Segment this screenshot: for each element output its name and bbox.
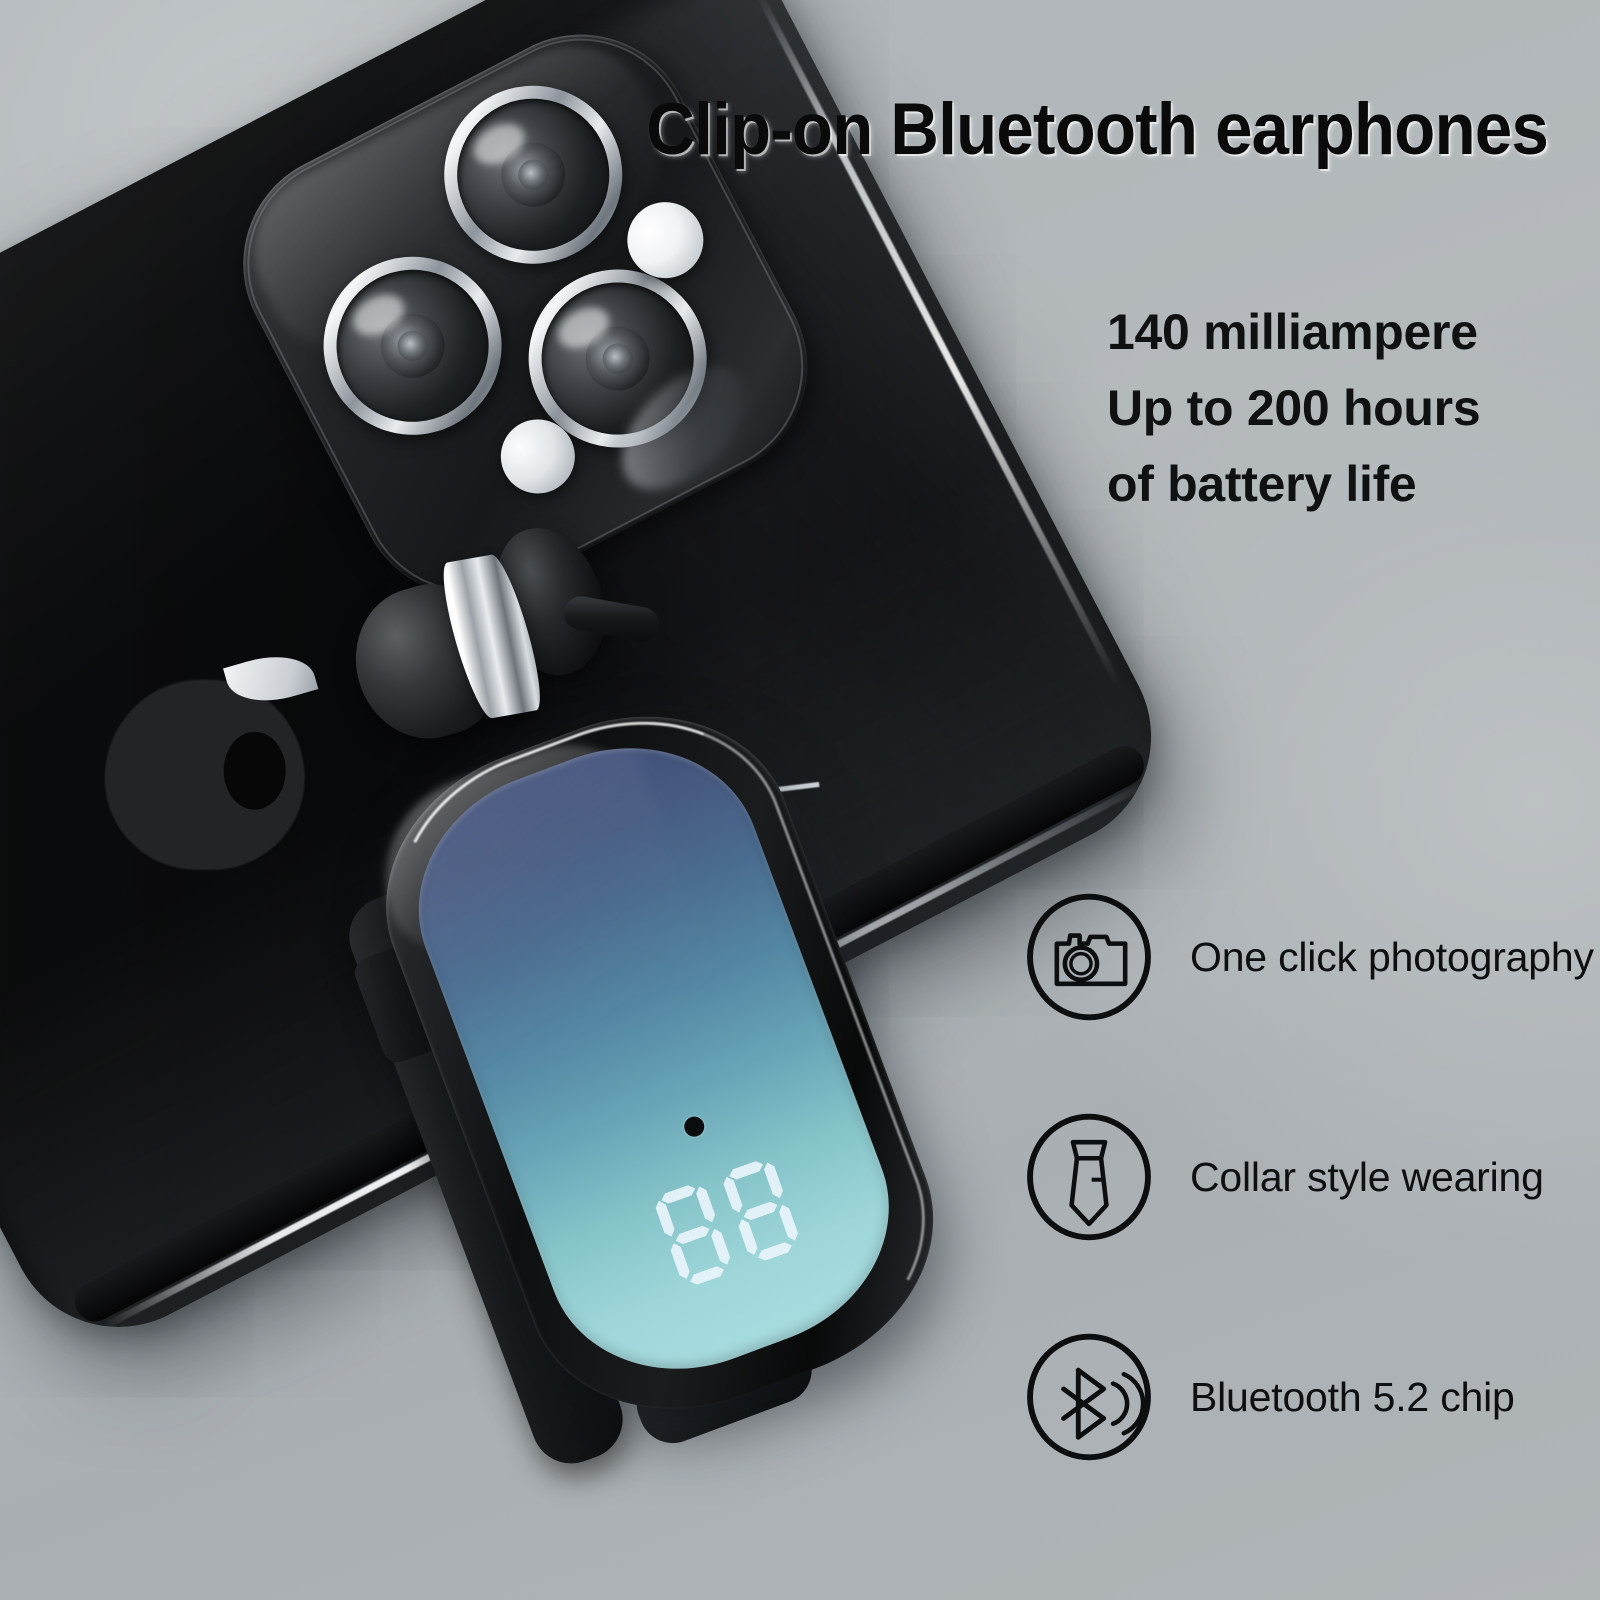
led-segment-d xyxy=(756,1240,794,1262)
feature-list: One click photography Collar style weari… xyxy=(1022,890,1594,1464)
feature-label: Bluetooth 5.2 chip xyxy=(1190,1374,1515,1421)
camera-icon xyxy=(1022,890,1156,1024)
bluetooth-icon xyxy=(1022,1330,1156,1464)
led-segment-e xyxy=(737,1218,760,1257)
led-segment-b xyxy=(762,1161,785,1200)
microphone-hole-icon xyxy=(681,1114,707,1140)
led-segment-c xyxy=(709,1227,732,1266)
feature-label: Collar style wearing xyxy=(1190,1154,1544,1201)
apple-logo-icon xyxy=(105,642,320,872)
page-title: Clip-on Bluetooth earphones xyxy=(646,88,1548,171)
led-battery-display xyxy=(648,1153,806,1291)
led-segment-c xyxy=(777,1203,800,1242)
spec-line-capacity: 140 milliampere xyxy=(1107,294,1480,370)
feature-item-photography: One click photography xyxy=(1022,890,1594,1024)
apple-logo-bite xyxy=(224,732,286,810)
led-segment-e xyxy=(669,1242,692,1281)
led-segment-f xyxy=(722,1175,745,1214)
feature-item-collar-wearing: Collar style wearing xyxy=(1022,1110,1594,1244)
led-segment-g xyxy=(674,1224,712,1246)
necktie-icon xyxy=(1022,1110,1156,1244)
led-segment-d xyxy=(688,1264,726,1286)
led-segment-g xyxy=(742,1200,780,1222)
led-segment-a xyxy=(727,1159,765,1181)
led-segment-f xyxy=(654,1199,677,1238)
feature-label: One click photography xyxy=(1190,934,1594,981)
led-segment-a xyxy=(660,1183,698,1205)
spec-line-battery-hours: Up to 200 hours xyxy=(1107,370,1480,446)
spec-text-block: 140 milliampere Up to 200 hours of batte… xyxy=(1107,294,1480,522)
product-marketing-image: Clip-on Bluetooth earphones 140 milliamp… xyxy=(0,0,1600,1600)
led-segment-b xyxy=(694,1185,717,1224)
feature-item-bluetooth-chip: Bluetooth 5.2 chip xyxy=(1022,1330,1594,1464)
spec-line-battery-life: of battery life xyxy=(1107,446,1480,522)
